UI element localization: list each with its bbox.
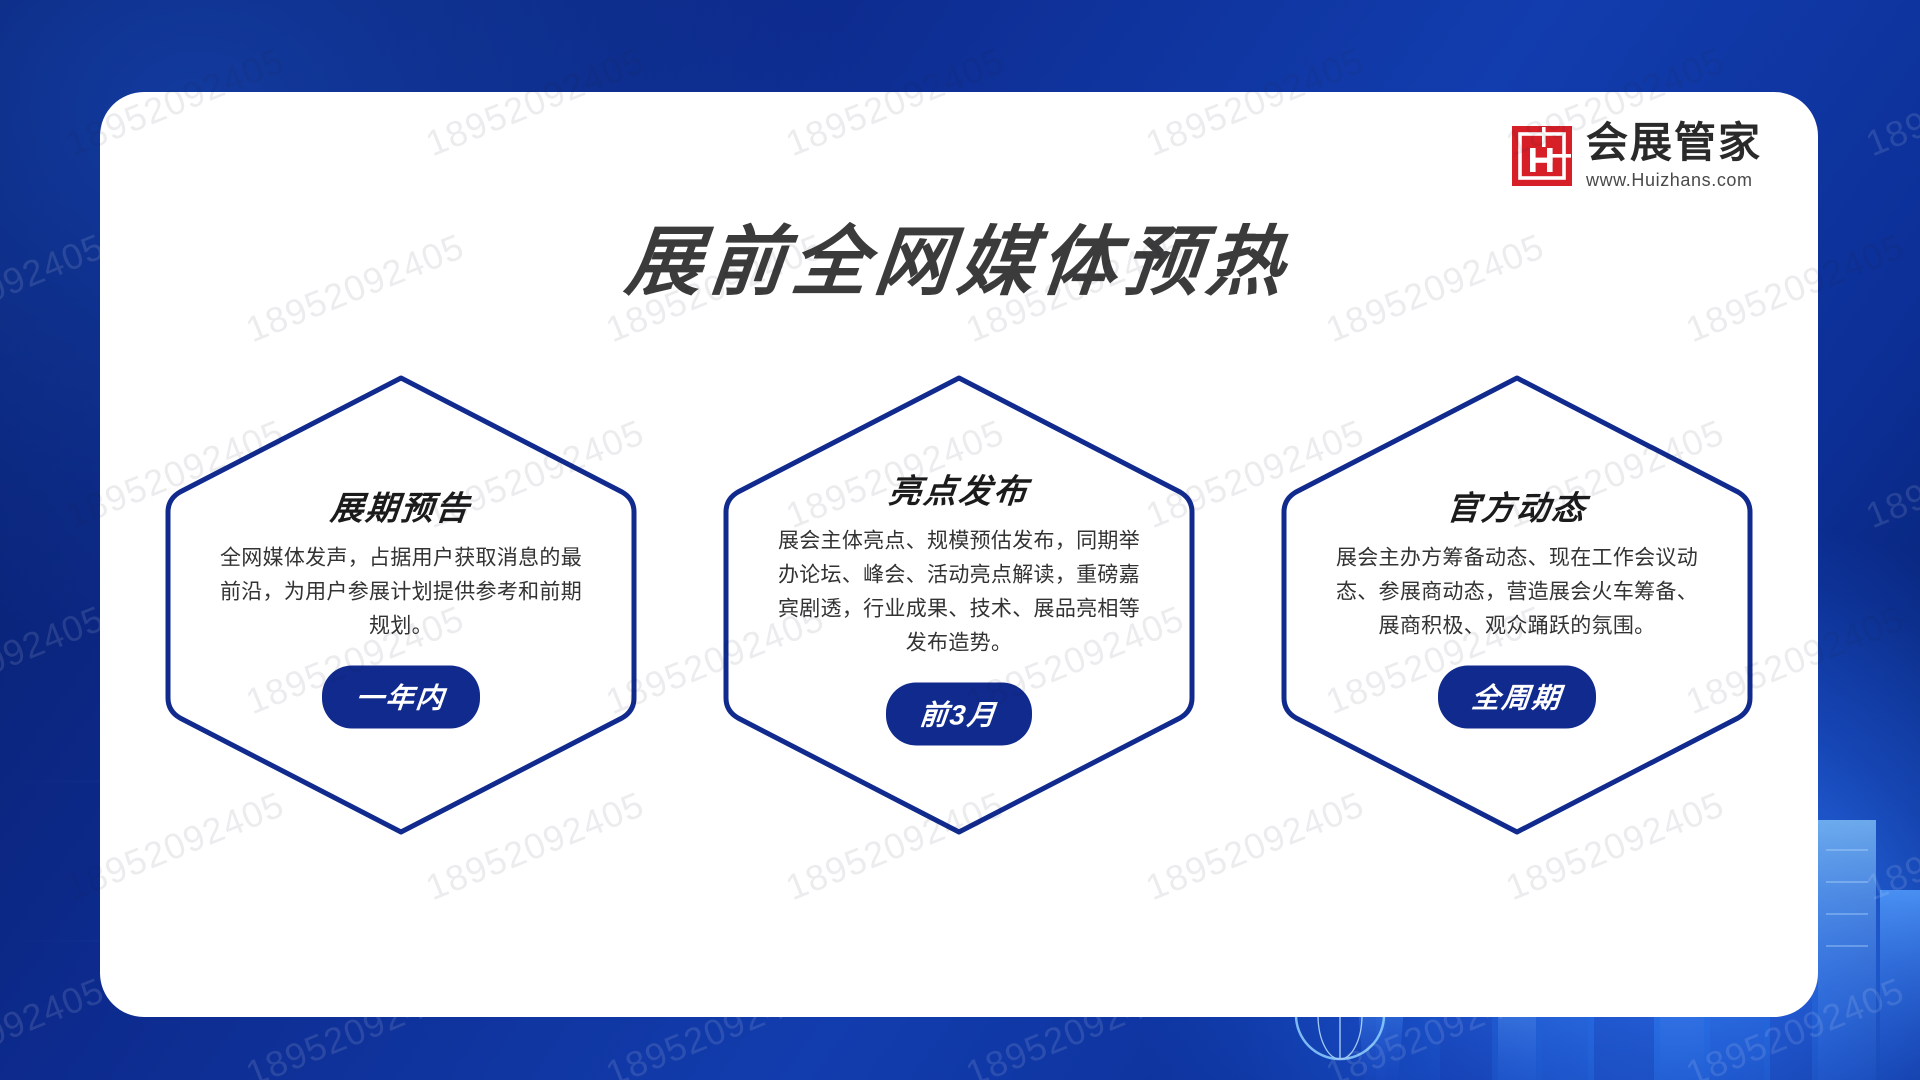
hexagon-card-1-badge[interactable]: 一年内 <box>322 666 480 729</box>
hexagon-card-2-body: 展会主体亮点、规模预估发布，同期举办论坛、峰会、活动亮点解读，重磅嘉宾剧透，行业… <box>775 524 1143 660</box>
hexagon-card-2-title: 亮点发布 <box>772 464 1145 512</box>
hexagon-card-3-title: 官方动态 <box>1330 481 1703 529</box>
hexagon-card-2-content: 亮点发布 展会主体亮点、规模预估发布，同期举办论坛、峰会、活动亮点解读，重磅嘉宾… <box>775 464 1143 745</box>
hexagon-card-2[interactable]: 亮点发布 展会主体亮点、规模预估发布，同期举办论坛、峰会、活动亮点解读，重磅嘉宾… <box>718 370 1200 840</box>
hexagon-card-1-body: 全网媒体发声，占据用户获取消息的最前沿，为用户参展计划提供参考和前期规划。 <box>217 541 585 643</box>
hexagon-card-3-badge-label: 全周期 <box>1470 677 1564 717</box>
brand-name: 会展管家 <box>1586 122 1762 165</box>
hexagon-card-3-body: 展会主办方筹备动态、现在工作会议动态、参展商动态，营造展会火车筹备、展商积极、观… <box>1333 541 1701 643</box>
page-title: 展前全网媒体预热 <box>100 200 1818 310</box>
hexagon-card-3-badge[interactable]: 全周期 <box>1438 666 1596 729</box>
hexagon-card-row: 展期预告 全网媒体发声，占据用户获取消息的最前沿，为用户参展计划提供参考和前期规… <box>160 370 1758 850</box>
brand-url: www.Huizhans.com <box>1586 170 1753 191</box>
brand-text: 会展管家 www.Huizhans.com <box>1586 122 1762 191</box>
hexagon-card-1[interactable]: 展期预告 全网媒体发声，占据用户获取消息的最前沿，为用户参展计划提供参考和前期规… <box>160 370 642 840</box>
hexagon-card-2-badge-label: 前3月 <box>918 694 1000 734</box>
hexagon-card-1-title: 展期预告 <box>214 481 587 529</box>
hexagon-card-1-badge-label: 一年内 <box>354 677 448 717</box>
hexagon-card-1-content: 展期预告 全网媒体发声，占据用户获取消息的最前沿，为用户参展计划提供参考和前期规… <box>217 481 585 728</box>
hexagon-card-2-badge[interactable]: 前3月 <box>886 683 1032 746</box>
hexagon-card-3-content: 官方动态 展会主办方筹备动态、现在工作会议动态、参展商动态，营造展会火车筹备、展… <box>1333 481 1701 728</box>
h-square-logo-icon <box>1511 125 1573 187</box>
content-card: 会展管家 www.Huizhans.com 展前全网媒体预热 展期预告 全网媒体… <box>100 92 1818 1017</box>
hexagon-card-3[interactable]: 官方动态 展会主办方筹备动态、现在工作会议动态、参展商动态，营造展会火车筹备、展… <box>1276 370 1758 840</box>
brand-logo: 会展管家 www.Huizhans.com <box>1511 122 1762 191</box>
